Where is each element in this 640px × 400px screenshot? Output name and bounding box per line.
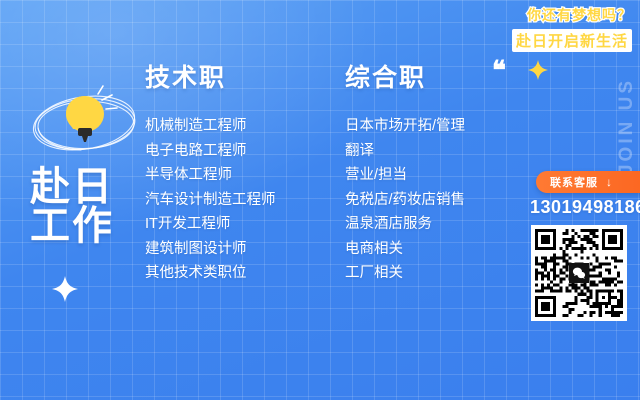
column-tech: 技术职 机械制造工程师 电子电路工程师 半导体工程师 汽车设计制造工程师 IT开… — [145, 58, 276, 286]
star-white-icon — [52, 276, 78, 307]
brand-line-1: 赴日 — [30, 168, 114, 207]
brand-title: 赴日 工作 — [30, 168, 114, 246]
list-item: 温泉酒店服务 — [345, 212, 465, 237]
list-item: 电商相关 — [345, 237, 465, 262]
list-item: 汽车设计制造工程师 — [145, 188, 276, 213]
phone-number: 13019498186 — [530, 197, 640, 218]
contact-support-button[interactable]: 联系客服 ↓ — [536, 171, 640, 193]
slogan-line-1: 你还有梦想吗？ — [527, 5, 632, 25]
list-item: IT开发工程师 — [145, 212, 276, 237]
list-item: 免税店/药妆店销售 — [345, 188, 465, 213]
star-yellow-icon — [528, 60, 548, 85]
join-us-watermark: JOIN US — [616, 78, 638, 175]
poster-root: 你还有梦想吗？ 赴日开启新生活 ❝ JOIN US — [0, 0, 640, 400]
column-general-list: 日本市场开拓/管理 翻译 营业/担当 免税店/药妆店销售 温泉酒店服务 电商相关… — [345, 114, 465, 286]
list-item: 日本市场开拓/管理 — [345, 114, 465, 139]
quote-mark-icon: ❝ — [492, 58, 506, 84]
list-item: 营业/担当 — [345, 163, 465, 188]
column-general: 综合职 日本市场开拓/管理 翻译 营业/担当 免税店/药妆店销售 温泉酒店服务 … — [345, 58, 465, 286]
brand-line-2: 工作 — [30, 207, 114, 246]
list-item: 半导体工程师 — [145, 163, 276, 188]
list-item: 建筑制图设计师 — [145, 237, 276, 262]
list-item: 工厂相关 — [345, 261, 465, 286]
column-tech-title: 技术职 — [145, 58, 276, 94]
list-item: 其他技术类职位 — [145, 261, 276, 286]
lightbulb-icon — [26, 84, 144, 162]
column-tech-list: 机械制造工程师 电子电路工程师 半导体工程师 汽车设计制造工程师 IT开发工程师… — [145, 114, 276, 286]
wechat-qr-code[interactable] — [531, 225, 627, 321]
column-general-title: 综合职 — [345, 58, 465, 94]
wechat-logo-icon — [569, 263, 589, 283]
arrow-down-icon: ↓ — [606, 176, 612, 188]
list-item: 翻译 — [345, 139, 465, 164]
slogan-line-2: 赴日开启新生活 — [512, 29, 632, 52]
list-item: 电子电路工程师 — [145, 139, 276, 164]
list-item: 机械制造工程师 — [145, 114, 276, 139]
contact-support-label: 联系客服 — [550, 174, 598, 190]
